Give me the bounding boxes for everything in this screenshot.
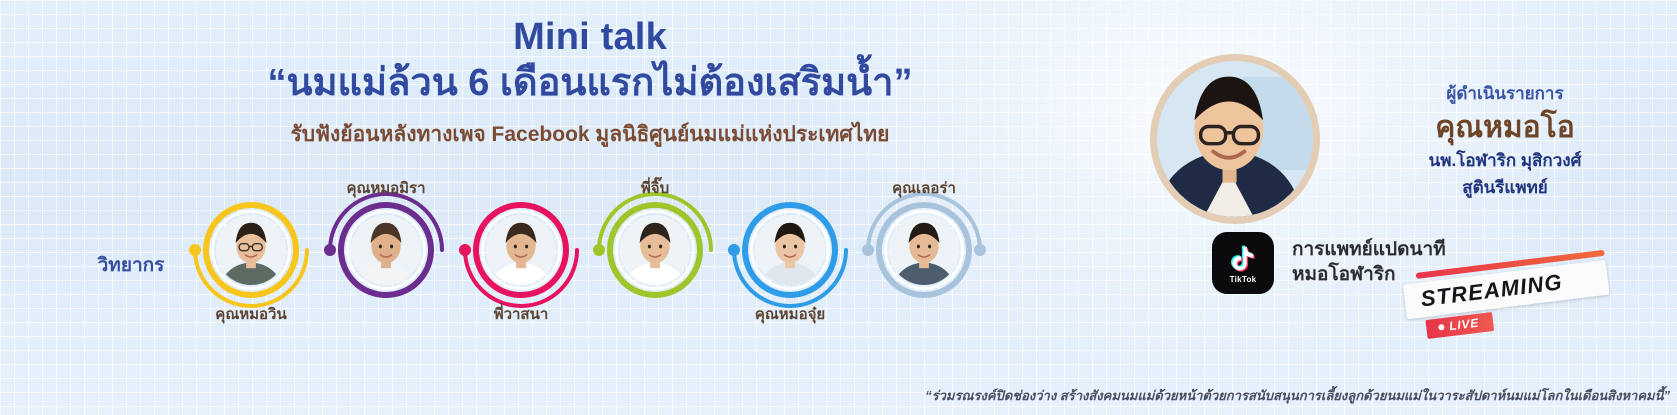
speaker-name: คุณหมอวิน	[151, 302, 351, 326]
tiktok-channel-line-1: การแพทย์แปดนาที	[1292, 238, 1446, 263]
speaker-name: คุณเลอร่า	[824, 176, 1024, 200]
speaker-inner-ring	[884, 210, 964, 290]
event-banner: Mini talk “นมแม่ล้วน 6 เดือนแรกไม่ต้องเส…	[0, 0, 1677, 415]
host-avatar	[1150, 54, 1320, 224]
host-real-name: นพ.โอฬาริก มุสิกวงศ์	[1330, 150, 1677, 171]
speaker-inner-ring	[481, 210, 561, 290]
speaker-inner-ring	[615, 210, 695, 290]
speaker-avatar-3[interactable]: พี่วาสนา	[473, 202, 569, 298]
speaker-name: พี่วาสนา	[421, 302, 621, 326]
speaker-lineup: วิทยากร คุณหมอวินคุณหมอมิราพี่วาสนาพี่จิ…	[0, 178, 1110, 348]
live-label: LIVE	[1448, 316, 1479, 334]
connector-dot	[324, 244, 336, 256]
speaker-inner-ring	[211, 210, 291, 290]
host-role: ผู้ดำเนินรายการ	[1330, 80, 1677, 107]
speaker-avatar-6[interactable]: คุณเลอร่า	[876, 202, 972, 298]
host-details: ผู้ดำเนินรายการ คุณหมอโอ นพ.โอฬาริก มุสิ…	[1330, 80, 1677, 199]
speaker-name: พี่จิ๊บ	[555, 176, 755, 200]
speaker-name: คุณหมอมิรา	[286, 176, 486, 200]
live-tag: LIVE	[1425, 312, 1494, 339]
headline-main: Mini talk	[0, 16, 1180, 59]
host-specialty: สูตินรีแพทย์	[1330, 177, 1677, 198]
headline-quote: “นมแม่ล้วน 6 เดือนแรกไม่ต้องเสริมน้ำ”	[0, 61, 1180, 107]
connector-dot	[974, 244, 986, 256]
speaker-avatar-5[interactable]: คุณหมอจุ๋ย	[742, 202, 838, 298]
speaker-inner-ring	[346, 210, 426, 290]
connector-dot	[189, 244, 201, 256]
host-block: ผู้ดำเนินรายการ คุณหมอโอ นพ.โอฬาริก มุสิ…	[1140, 54, 1677, 234]
speaker-avatar-4[interactable]: พี่จิ๊บ	[607, 202, 703, 298]
tiktok-wordmark: TikTok	[1230, 275, 1257, 284]
host-nickname: คุณหมอโอ	[1330, 111, 1677, 144]
connector-dot	[862, 244, 874, 256]
speaker-avatar-2[interactable]: คุณหมอมิรา	[338, 202, 434, 298]
live-dot-icon	[1438, 324, 1445, 331]
headline-block: Mini talk “นมแม่ล้วน 6 เดือนแรกไม่ต้องเส…	[0, 16, 1180, 147]
headline-subtitle: รับฟังย้อนหลังทางเพจ Facebook มูลนิธิศูน…	[0, 122, 1180, 147]
speaker-avatar-1[interactable]: คุณหมอวิน	[203, 202, 299, 298]
speaker-name: คุณหมอจุ๋ย	[690, 302, 890, 326]
connector-dot	[593, 244, 605, 256]
speaker-inner-ring	[750, 210, 830, 290]
footer-caption: “ร่วมรณรงค์ปิดช่องว่าง สร้างสังคมนมแม่ด้…	[0, 385, 1677, 406]
connector-dot	[728, 244, 740, 256]
tiktok-icon[interactable]: TikTok	[1212, 232, 1274, 294]
connector-dot	[459, 244, 471, 256]
